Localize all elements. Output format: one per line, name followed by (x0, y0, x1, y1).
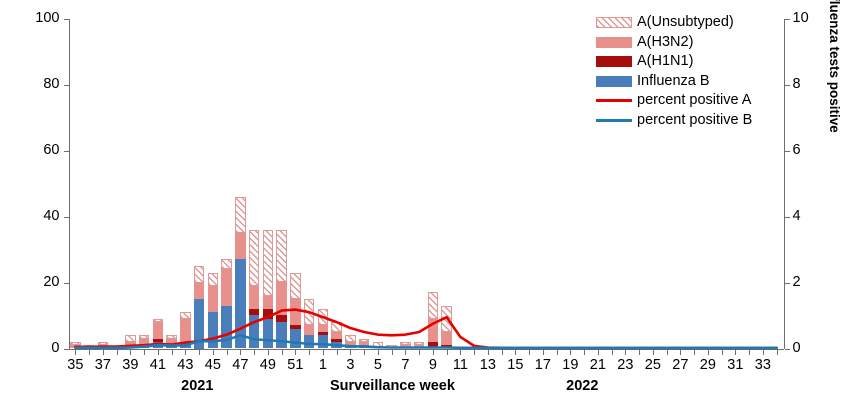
influenza-surveillance-chart: Number of positive influenza tests Perce… (0, 0, 856, 406)
percent-positive-lines (0, 0, 856, 406)
line-percent-positive-a (75, 310, 776, 348)
line-percent-positive-b (75, 335, 776, 348)
